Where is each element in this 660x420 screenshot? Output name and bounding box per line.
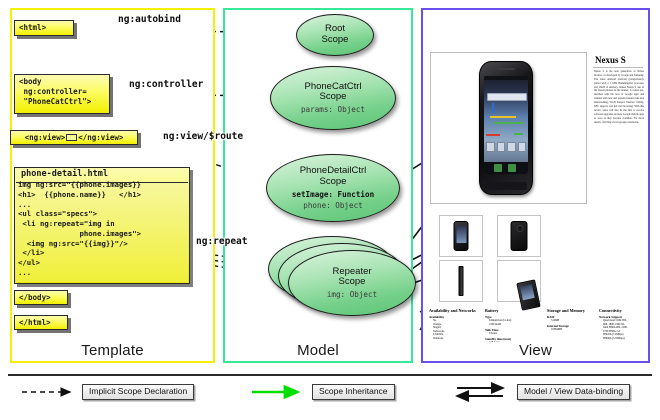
scope-root: Root Scope	[296, 14, 374, 56]
title-divider	[593, 67, 643, 68]
screen-accent-blue	[492, 103, 494, 113]
panel-template-label: Template	[12, 342, 213, 359]
spec-value: 512MB	[547, 319, 599, 323]
thumbnail-1[interactable]	[439, 215, 483, 257]
label-ng-repeat: ng:repeat	[196, 236, 247, 247]
spec-column-connectivity: Connectivity Network Support Quad-band G…	[599, 308, 645, 342]
scope-phonecatctrl: PhoneCatCtrl Scope params: Object	[270, 66, 396, 130]
scope-root-title: Root Scope	[322, 24, 349, 45]
spec-heading: Connectivity	[599, 308, 645, 313]
thumb-phone-back	[511, 221, 528, 251]
legend-item-implicit-scope: Implicit Scope Declaration	[20, 382, 194, 402]
spec-value: 16384MB	[547, 328, 599, 332]
scope-phonecatctrl-title: PhoneCatCtrl Scope	[304, 82, 361, 103]
screen-accent-green	[494, 122, 524, 124]
phone-searchbar	[487, 93, 527, 101]
code-tag-body-close: </body>	[14, 290, 68, 305]
screen-accent-red	[486, 134, 500, 136]
legend-divider	[8, 374, 652, 376]
thumbnail-3[interactable]	[439, 260, 483, 302]
thumb-phone-angle	[516, 279, 540, 310]
detail-code: img ng:src="{{phone.images}} <h1> {{phon…	[15, 180, 189, 278]
screen-accent-green-2	[514, 133, 523, 135]
app-icon-2	[497, 142, 506, 152]
screen-app-icons	[486, 142, 526, 152]
code-tag-body: <body ng:controller= "PhoneCatCtrl">	[14, 74, 110, 114]
label-ng-controller: ng:controller	[129, 79, 203, 90]
panel-model-label: Model	[225, 342, 411, 359]
scope-phonedetailctrl-prop-setimage: setImage: Function	[292, 190, 374, 199]
hero-image-frame	[430, 52, 587, 204]
phone-button-row	[485, 182, 527, 190]
spec-heading: Storage and Memory	[547, 308, 599, 313]
phone-hero-image	[479, 61, 533, 195]
legend-label-scope-inheritance: Scope Inheritance	[312, 384, 395, 399]
phone-statusbar	[484, 76, 528, 80]
scope-repeater: Repeater Scope img: Object	[288, 250, 416, 316]
spec-value: 428 hours	[485, 341, 543, 342]
dock-icon-2	[508, 164, 516, 172]
scope-phonecatctrl-prop-params: params: Object	[301, 105, 365, 114]
phone-speaker	[497, 68, 515, 70]
double-arrow-icon	[455, 382, 513, 402]
spec-column-battery: Battery Type Lithium Ion (Li-Ion) 1500 m…	[485, 308, 543, 342]
thumbnail-2[interactable]	[497, 215, 541, 257]
diagram-root: Template <html> <body ng:controller= "Ph…	[0, 0, 660, 420]
spec-heading: Availability and Networks	[429, 308, 477, 313]
detail-filename: phone-detail.html	[15, 168, 189, 180]
scope-phonedetailctrl-title: PhoneDetailCtrl Scope	[300, 166, 367, 187]
code-tag-html: <html>	[14, 20, 74, 36]
app-icon-1	[486, 142, 495, 152]
thumbnail-4[interactable]	[497, 260, 541, 302]
scope-phonedetailctrl-prop-phone: phone: Object	[303, 201, 362, 210]
label-ng-view-route: ng:view/$route	[163, 131, 243, 142]
code-tag-html-close: </html>	[14, 315, 68, 330]
legend-item-data-binding: Model / View Data-binding	[455, 382, 630, 402]
scope-repeater-prop-img: img: Object	[327, 290, 377, 299]
panel-view-label: View	[423, 342, 648, 359]
code-tag-ngview: <ng:view></ng:view>	[10, 130, 138, 145]
legend-label-implicit-scope: Implicit Scope Declaration	[82, 384, 194, 399]
scope-phonedetailctrl: PhoneDetailCtrl Scope setImage: Function…	[266, 154, 400, 222]
template-detail-callout: phone-detail.html img ng:src="{{phone.im…	[14, 167, 190, 284]
spec-column-storage: Storage and Memory RAM 512MB Internal St…	[547, 308, 599, 332]
spec-value: HSDPA (5.76Mbps)	[599, 337, 645, 341]
screen-accent-yellow	[490, 116, 516, 118]
spec-table: Availability and Networks Availability 3…	[427, 308, 644, 342]
scope-repeater-title: Repeater Scope	[332, 267, 371, 288]
spec-column-availability: Availability and Networks Availability 3…	[429, 308, 477, 341]
spec-heading: Battery	[485, 308, 543, 313]
app-icon-3	[507, 142, 516, 152]
screen-dock	[484, 162, 528, 174]
spec-value: 1500 mAH	[485, 323, 543, 327]
thumb-phone-side	[459, 266, 464, 296]
legend: Implicit Scope Declaration Scope Inherit…	[0, 382, 660, 410]
legend-label-data-binding: Model / View Data-binding	[517, 384, 630, 399]
product-description: Nexus S is the next generation of Nexus …	[594, 70, 644, 124]
dashed-arrow-icon	[20, 382, 78, 402]
legend-item-scope-inheritance: Scope Inheritance	[250, 382, 395, 402]
phone-screen	[484, 76, 528, 174]
ngview-open-text: <ng:view>	[25, 133, 66, 143]
product-title: Nexus S	[595, 55, 626, 65]
label-ng-autobind: ng:autobind	[118, 14, 181, 25]
app-icon-4	[518, 142, 527, 152]
spec-value: Vodafone	[429, 337, 477, 341]
dock-icon-1	[494, 164, 502, 172]
spec-value: 6 hours	[485, 332, 543, 336]
rendered-view-page: Nexus S Nexus S is the next generation o…	[425, 12, 646, 342]
ngview-slot-rect	[66, 134, 77, 141]
green-arrow-icon	[250, 382, 308, 402]
ngview-close-text: </ng:view>	[78, 133, 123, 143]
thumb-phone-front	[454, 221, 469, 251]
